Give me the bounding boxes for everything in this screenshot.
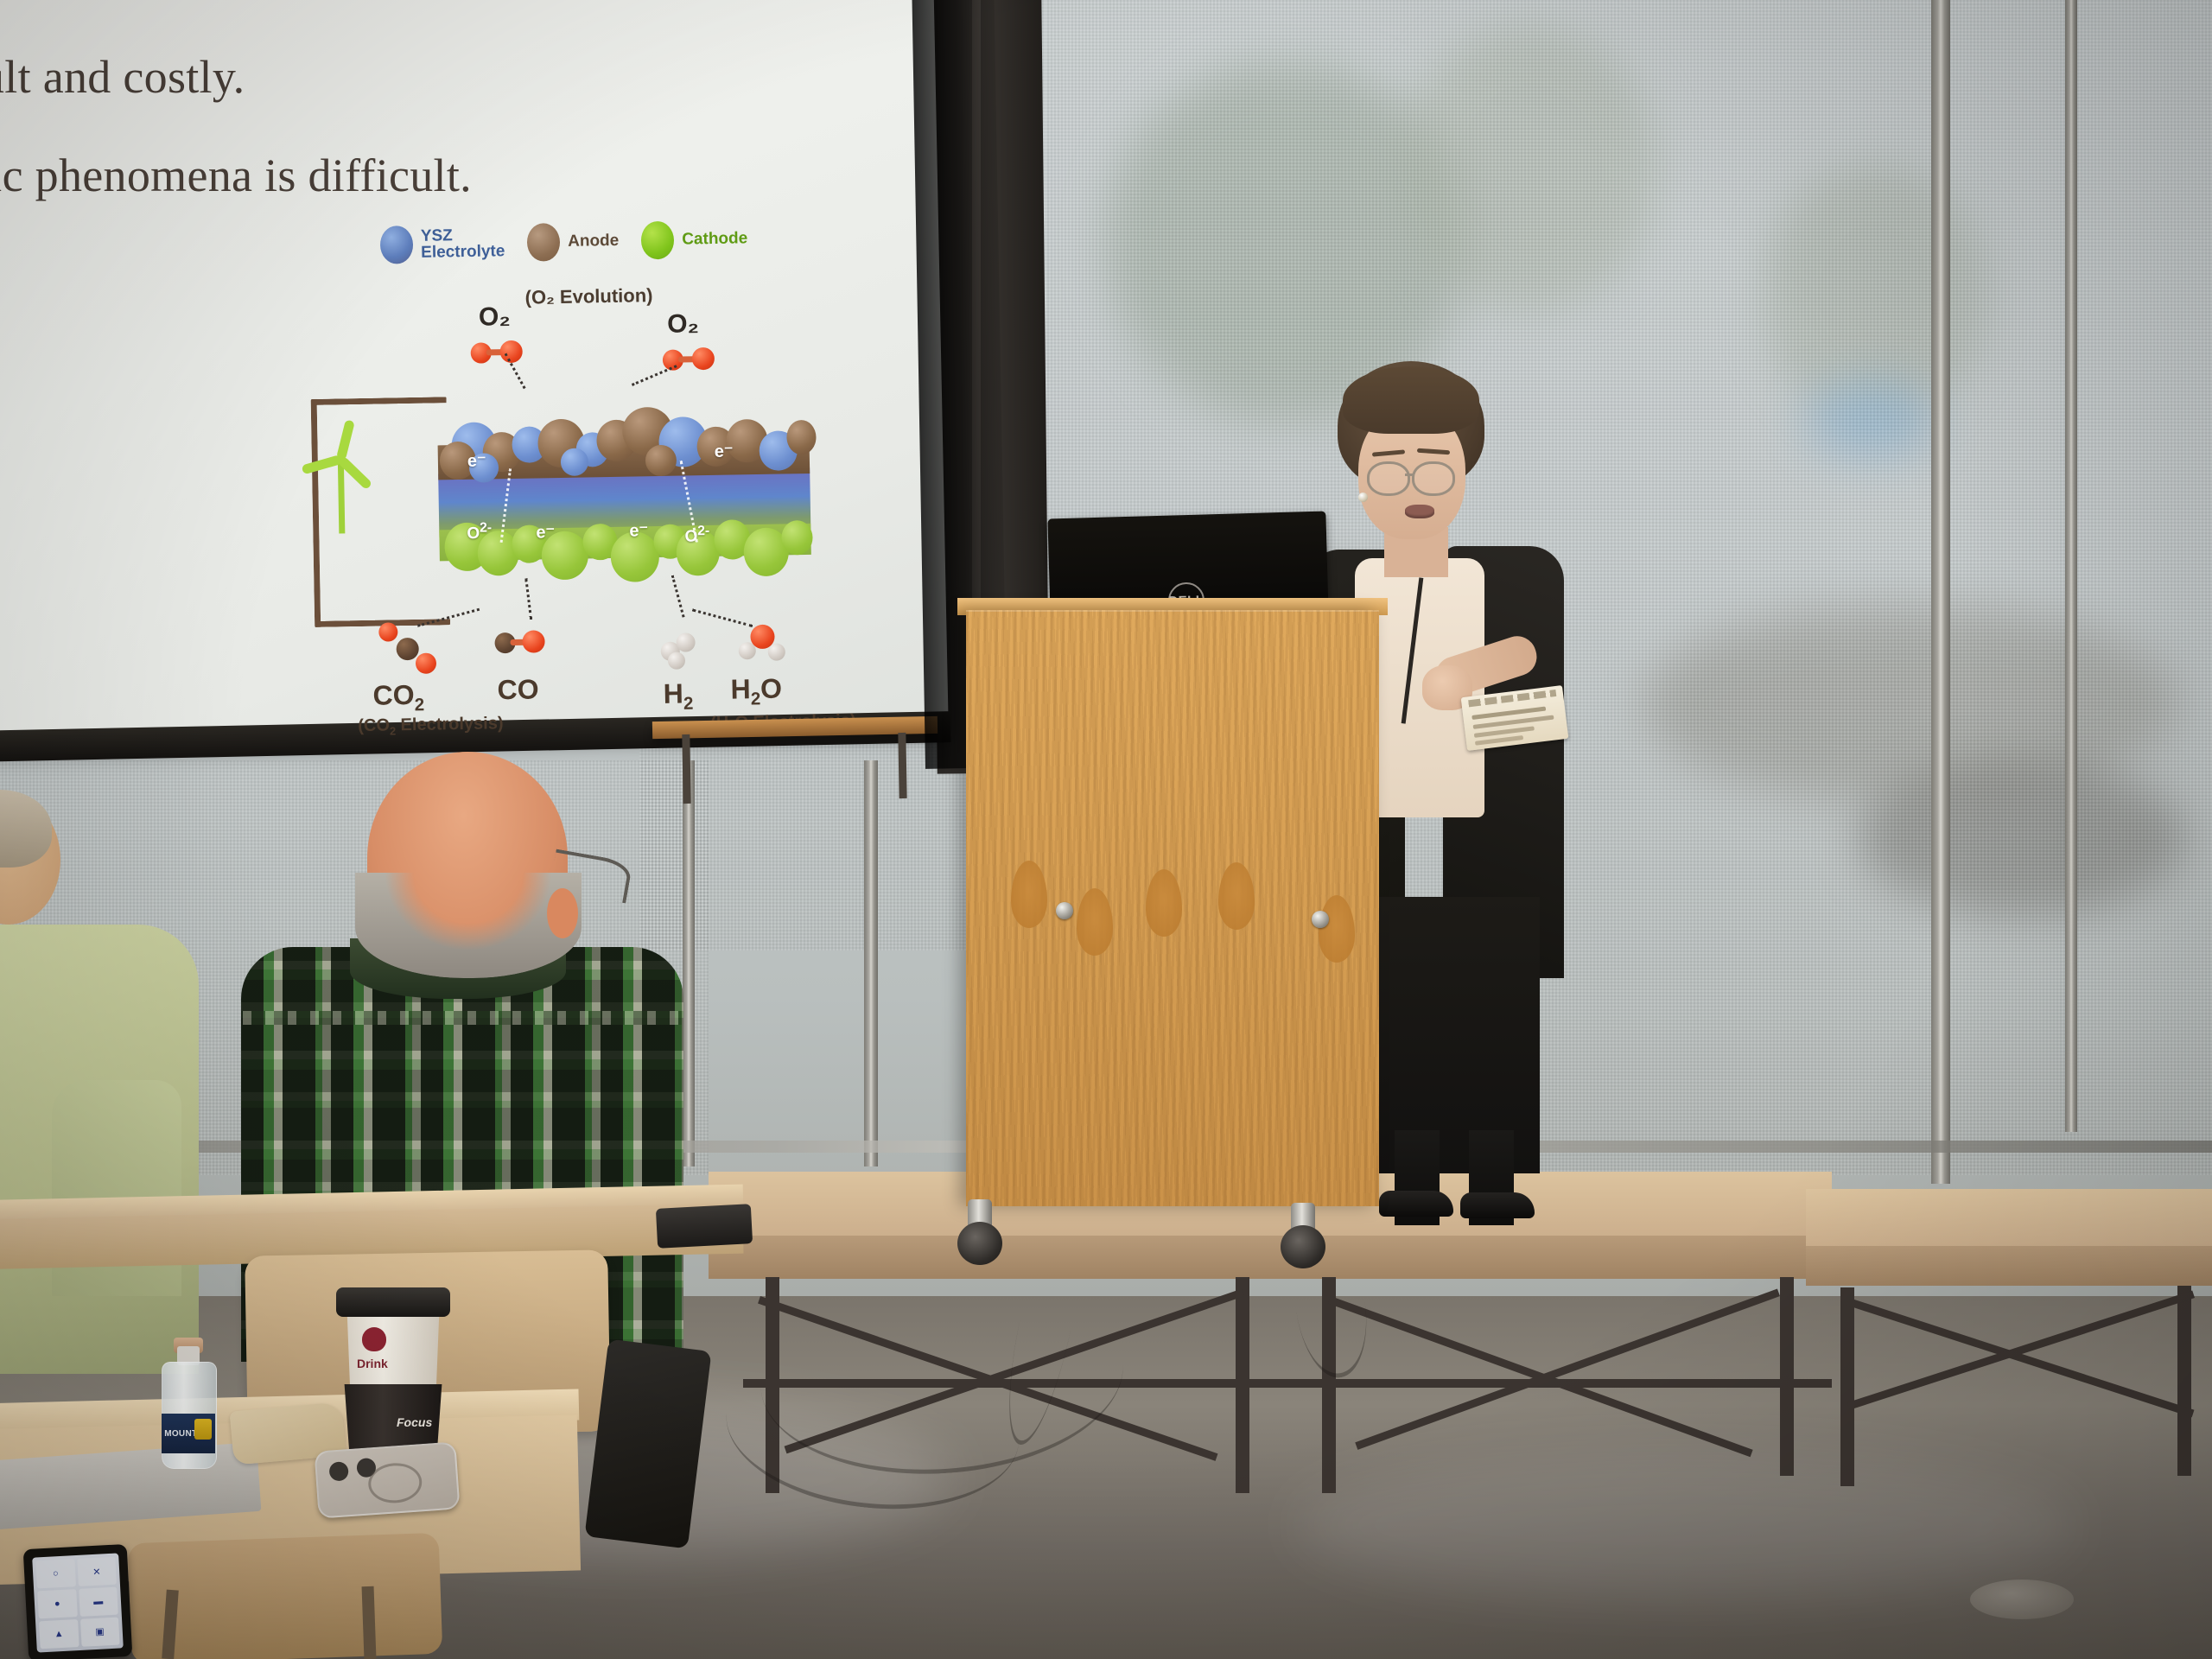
- slide-top-partial-text: a.: [0, 16, 1, 41]
- cup-lid: [336, 1287, 450, 1317]
- floor-plate: [1970, 1580, 2074, 1619]
- podium-bolt-1: [1056, 902, 1073, 919]
- tablet-icon-1[interactable]: ○: [35, 1559, 75, 1589]
- electrolysis-diagram: (O₂ Evolution) O₂ O₂: [324, 280, 893, 747]
- speaker-earring-icon: [1358, 493, 1368, 502]
- podium-bolt-2: [1312, 911, 1329, 928]
- mid-table-device[interactable]: [656, 1204, 753, 1249]
- o2-evolution-caption: (O₂ Evolution): [524, 284, 652, 309]
- platform-leg-4: [1780, 1277, 1794, 1476]
- window-mullion-3: [864, 760, 878, 1166]
- tablet-icon-6[interactable]: ▣: [79, 1617, 119, 1647]
- tablet-device[interactable]: ○ ✕ ● ▬ ▲ ▣: [23, 1544, 133, 1659]
- arrow-o2-right: [632, 365, 677, 386]
- podium-knot-1: [1011, 861, 1047, 928]
- legend-swatch-cathode-icon: [641, 221, 675, 260]
- electron-tag-4: e⁻: [629, 519, 648, 541]
- slide-legend: YSZ Electrolyte Anode Cathode: [380, 219, 748, 264]
- window-mullion-1: [1931, 0, 1950, 1184]
- bottle-label-seal-icon: [194, 1419, 212, 1440]
- co-label: CO: [497, 673, 539, 706]
- stage-platform-edge-left: [709, 1236, 1832, 1279]
- oxide-ion-tag-1: O2-: [467, 520, 492, 543]
- speaker-glasses-right-icon: [1412, 461, 1455, 496]
- legend-label-ysz-l2: Electrolyte: [421, 242, 505, 262]
- legend-swatch-ysz-icon: [380, 226, 414, 264]
- legend-label-ysz-l1: YSZ: [421, 226, 453, 245]
- cup-text-focus: Focus: [397, 1415, 432, 1429]
- slide-bullet-line-1: ult and costly.: [0, 50, 245, 104]
- smartphone[interactable]: [314, 1441, 460, 1518]
- cup-logo-icon: [362, 1327, 386, 1351]
- attendee-left-olive: [0, 795, 225, 1382]
- tablet-icon-2[interactable]: ✕: [77, 1557, 117, 1587]
- speaker-glasses-bridge-icon: [1405, 474, 1414, 476]
- speaker-shoe-right: [1460, 1192, 1535, 1218]
- h2-label: H2: [663, 677, 693, 715]
- tablet-icon-5[interactable]: ▲: [39, 1619, 79, 1649]
- platform-leg-5: [1840, 1287, 1854, 1486]
- tablet-icon-3[interactable]: ●: [37, 1589, 77, 1618]
- legend-label-ysz: YSZ Electrolyte: [421, 226, 505, 261]
- speaker-mouth: [1405, 505, 1434, 518]
- speaker-glasses-left-icon: [1367, 461, 1410, 496]
- slide-bullet-line-2: tic phenomena is difficult.: [0, 149, 472, 202]
- h2o-label: H2O: [730, 673, 782, 710]
- oxide-ion-tag-2: O2-: [684, 524, 709, 547]
- arrow-h2o-in: [692, 608, 753, 627]
- tablet-icon-4[interactable]: ▬: [79, 1587, 118, 1617]
- stage-platform-top-right: [1806, 1189, 2212, 1249]
- tablet-screen[interactable]: ○ ✕ ● ▬ ▲ ▣: [32, 1553, 124, 1652]
- window-mullion-2: [2065, 0, 2077, 1132]
- attendee-shirt-yoke: [243, 1011, 682, 1025]
- o2-label-left: O₂: [479, 302, 511, 333]
- platform-leg-6: [2177, 1286, 2191, 1476]
- legend-label-cathode: Cathode: [682, 231, 747, 249]
- water-bottle[interactable]: MOUNTAIN: [160, 1346, 217, 1467]
- legend-label-anode: Anode: [568, 232, 619, 250]
- podium-caster-right: [1281, 1203, 1325, 1268]
- presentation-photo: a. ult and costly. tic phenomena is diff…: [0, 0, 2212, 1659]
- podium-caster-left: [957, 1199, 1002, 1265]
- legend-item-anode: Anode: [527, 222, 620, 262]
- cup-text-drink: Drink: [357, 1357, 388, 1370]
- podium: [966, 610, 1379, 1206]
- podium-knot-2: [1077, 888, 1113, 956]
- co2-electrolysis-caption: (CO2 Electrolysis): [358, 714, 504, 738]
- speaker-hair-front: [1343, 366, 1479, 434]
- legend-item-cathode: Cathode: [641, 219, 748, 259]
- podium-knot-4: [1218, 862, 1255, 930]
- stage-platform-edge-right: [1806, 1246, 2212, 1286]
- attendee-hair-fringe: [355, 873, 582, 978]
- attendee-ear: [547, 888, 578, 938]
- electron-tag-3: e⁻: [536, 521, 555, 543]
- electron-tag-1: e⁻: [467, 449, 486, 471]
- speaker-shoe-left: [1379, 1191, 1453, 1217]
- o2-label-right: O₂: [667, 309, 699, 340]
- electrolysis-cell: e⁻ e⁻ O2- e⁻ e⁻ O2-: [436, 385, 811, 599]
- phone-camera-1-icon: [328, 1461, 348, 1481]
- podium-knot-5: [1319, 895, 1355, 963]
- shelf-leg-2: [898, 733, 906, 798]
- chair-leg-2: [362, 1586, 377, 1659]
- podium-knot-3: [1146, 869, 1182, 937]
- legend-swatch-anode-icon: [527, 223, 561, 262]
- coffee-cup[interactable]: Drink Focus: [341, 1287, 445, 1469]
- external-circuit: [311, 397, 451, 627]
- co2-label: CO2: [372, 679, 424, 716]
- legend-item-ysz: YSZ Electrolyte: [380, 224, 505, 264]
- electron-tag-2: e⁻: [715, 440, 734, 461]
